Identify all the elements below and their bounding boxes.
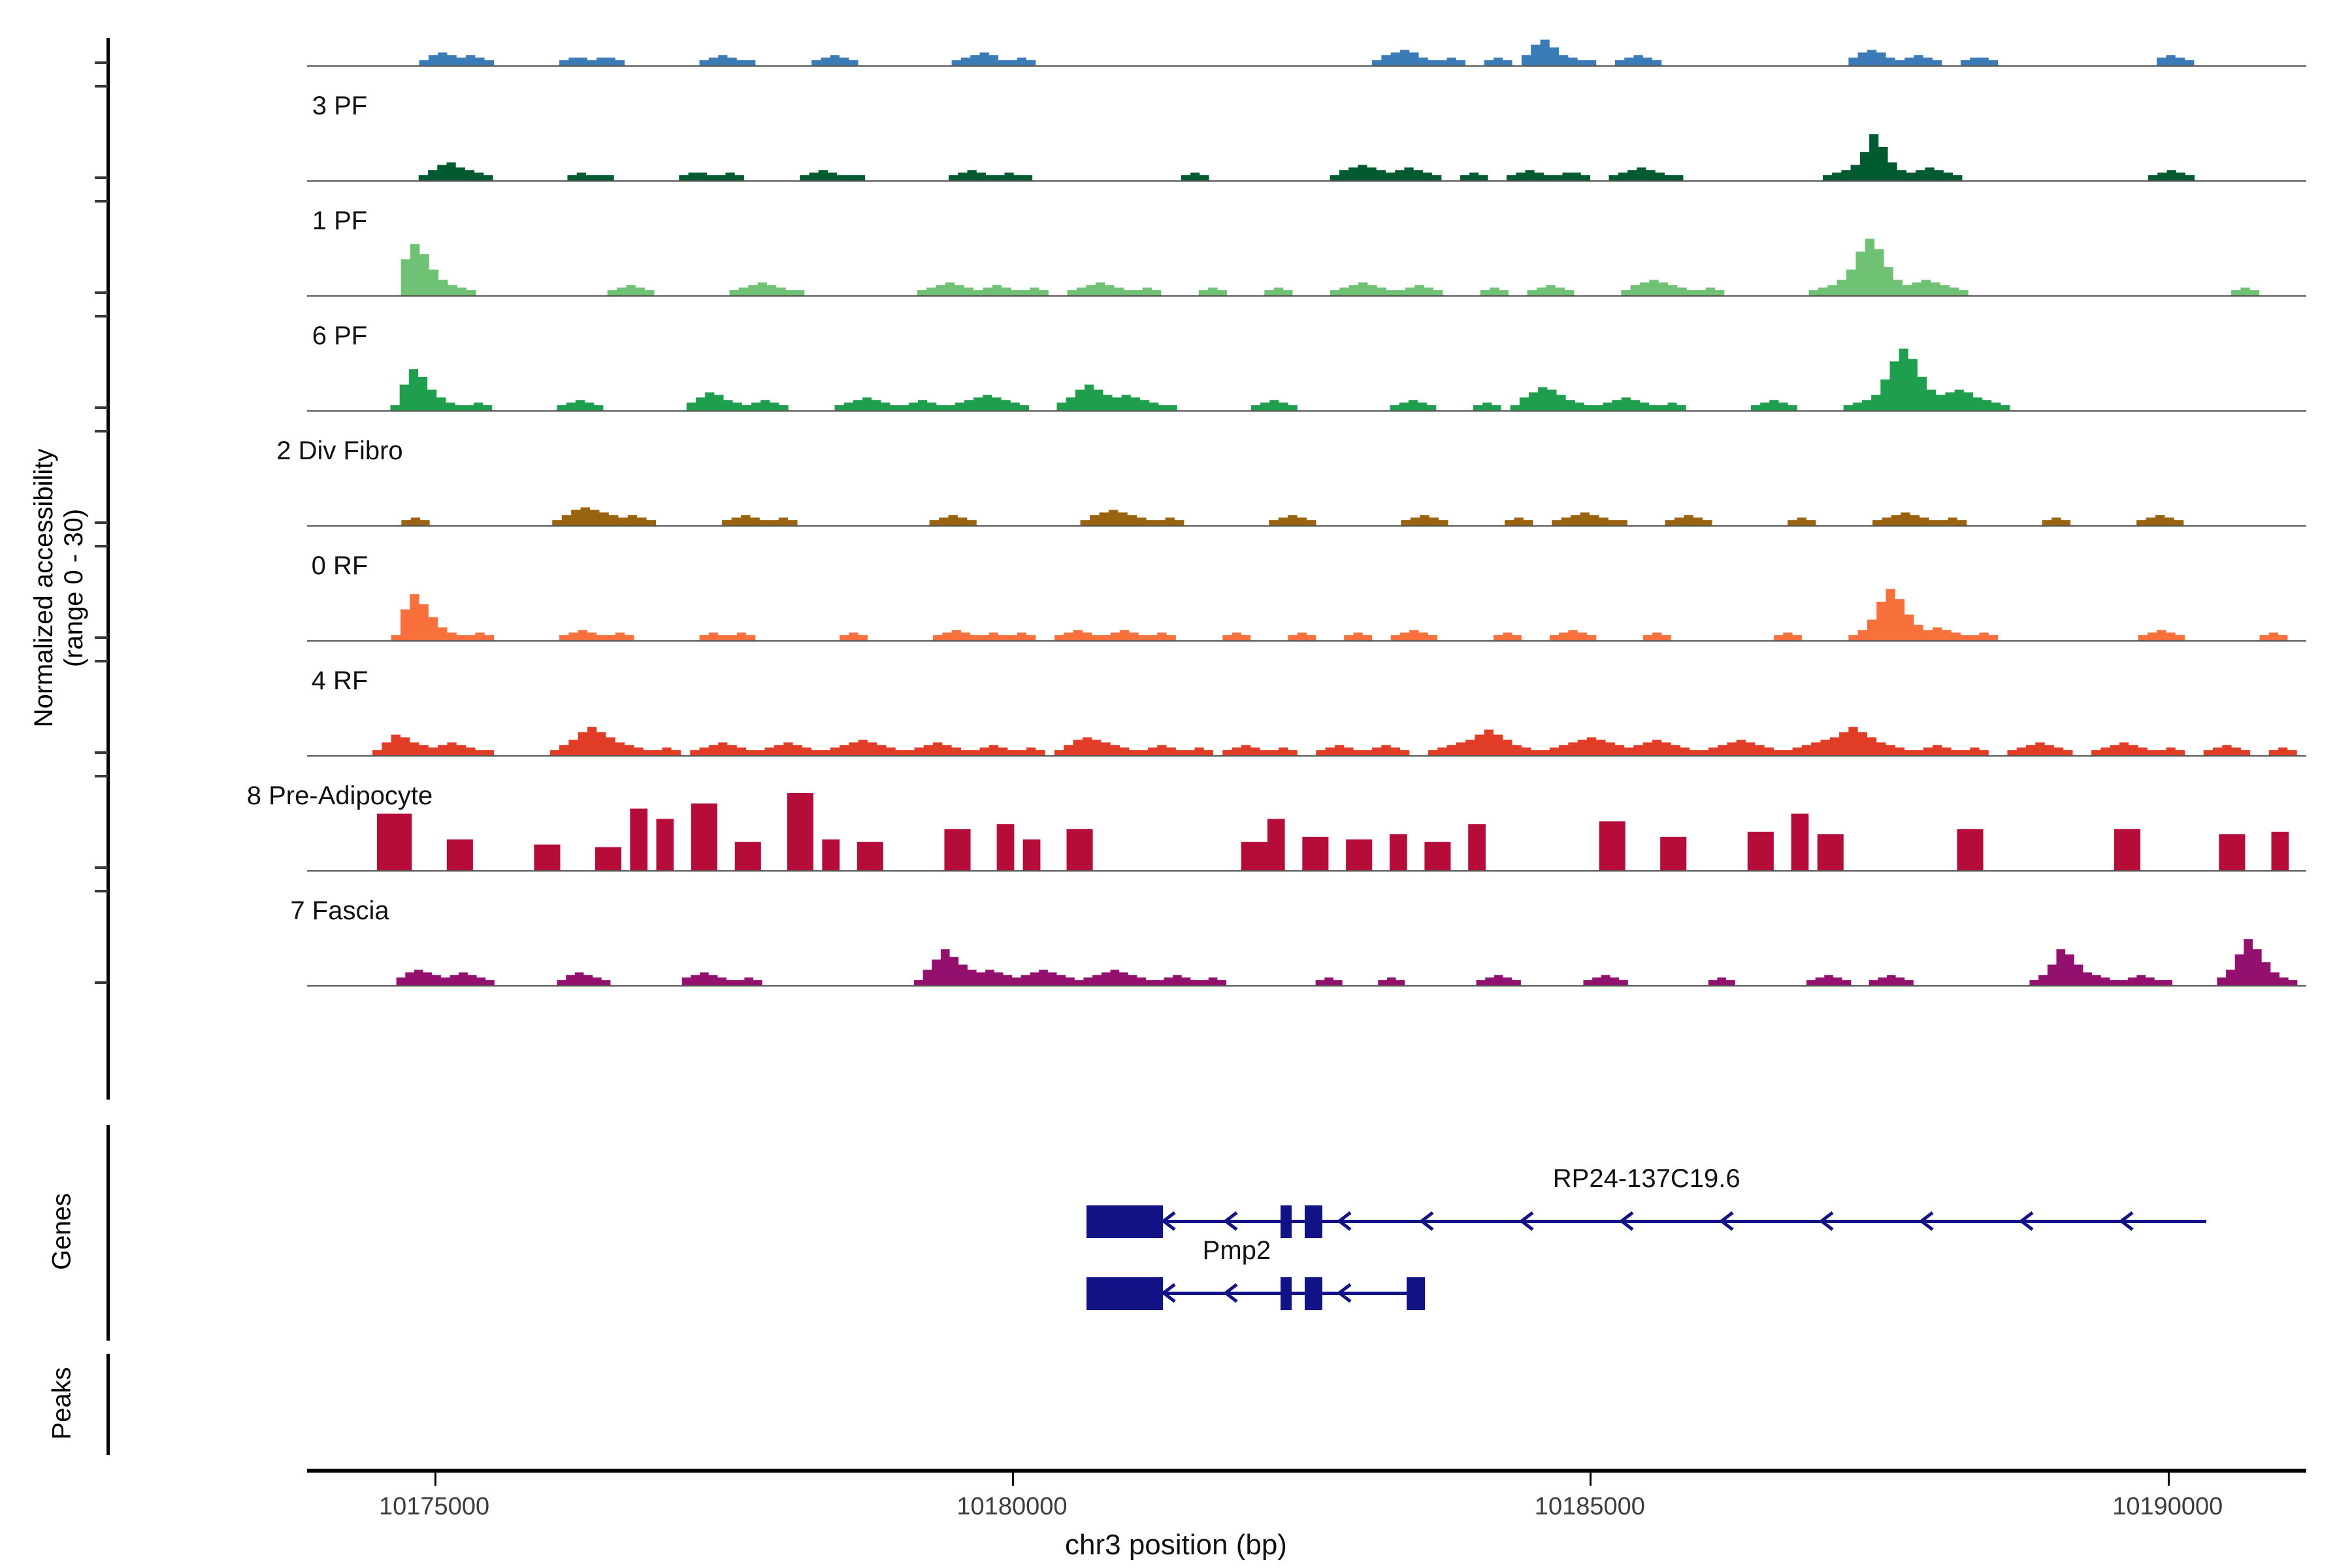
y-axis-tick	[95, 315, 108, 318]
y-axis-label-line1: Normalized accessibility	[29, 449, 58, 728]
x-axis-line	[307, 1469, 2306, 1473]
y-axis-label: Normalized accessibility (range 0 - 30)	[29, 449, 89, 728]
y-axis-tick	[95, 890, 108, 892]
y-axis-tick	[95, 751, 108, 754]
gene-strand-arrow-left-icon	[1618, 1211, 1635, 1232]
x-axis-tick	[1590, 1473, 1592, 1486]
gene-row[interactable]	[307, 1274, 2306, 1313]
x-axis-tick-label: 10180000	[956, 1493, 1067, 1521]
genome-browser-figure: Normalized accessibility (range 0 - 30) …	[0, 0, 2352, 1568]
genes-axis-label: Genes	[48, 1193, 77, 1270]
signal-track	[307, 908, 2306, 985]
track-baseline	[307, 180, 2306, 182]
y-axis-tick	[95, 291, 108, 294]
gene-exon	[1086, 1205, 1162, 1238]
gene-strand-arrow-left-icon	[1418, 1211, 1435, 1232]
gene-strand-arrow-left-icon	[1336, 1211, 1353, 1232]
signal-track	[307, 793, 2306, 870]
x-axis-tick	[434, 1473, 436, 1486]
track-baseline	[307, 525, 2306, 527]
signal-area	[307, 908, 2306, 985]
y-axis-tick	[95, 866, 108, 869]
y-axis-tick	[95, 430, 108, 433]
gene-exon	[1305, 1277, 1323, 1310]
y-axis-tick	[95, 660, 108, 662]
y-axis-tick	[95, 61, 108, 64]
y-axis-tick	[95, 981, 108, 984]
peaks-axis-label: Peaks	[48, 1367, 77, 1439]
signal-track	[307, 103, 2306, 180]
signal-area	[307, 103, 2306, 180]
signal-area	[307, 448, 2306, 525]
x-axis-tick-label: 10175000	[379, 1493, 489, 1521]
track-baseline	[307, 870, 2306, 872]
signal-area	[307, 563, 2306, 640]
signal-track	[307, 563, 2306, 640]
gene-strand-arrow-left-icon	[1222, 1282, 1239, 1303]
track-baseline	[307, 985, 2306, 987]
gene-strand-arrow-left-icon	[1818, 1211, 1835, 1232]
y-axis-tick	[95, 176, 108, 179]
y-axis-tick	[95, 85, 108, 88]
genes-label-group: Genes	[26, 1124, 98, 1339]
y-axis-tick	[95, 406, 108, 409]
peaks-axis-spine	[106, 1354, 110, 1455]
gene-exon	[1086, 1277, 1162, 1310]
y-axis-tick	[95, 200, 108, 203]
signal-axis-spine	[106, 38, 110, 1100]
signal-track	[307, 678, 2306, 755]
track-baseline	[307, 755, 2306, 757]
gene-name-label: RP24-137C19.6	[1553, 1164, 1740, 1194]
signal-area	[307, 0, 2306, 65]
gene-exon	[1281, 1205, 1292, 1238]
x-axis-tick-label: 10190000	[2112, 1493, 2223, 1521]
signal-area	[307, 793, 2306, 870]
gene-strand-arrow-left-icon	[1160, 1282, 1177, 1303]
track-baseline	[307, 65, 2306, 67]
signal-area	[307, 678, 2306, 755]
y-axis-tick	[95, 636, 108, 639]
gene-strand-arrow-left-icon	[2018, 1211, 2035, 1232]
x-axis-tick	[1012, 1473, 1014, 1486]
y-axis-label-group: Normalized accessibility (range 0 - 30)	[20, 405, 98, 771]
gene-strand-arrow-left-icon	[1718, 1211, 1735, 1232]
gene-exon	[1305, 1205, 1323, 1238]
signal-track	[307, 333, 2306, 410]
y-axis-label-line2: (range 0 - 30)	[59, 449, 89, 728]
gene-strand-arrow-left-icon	[1518, 1211, 1535, 1232]
gene-exon	[1281, 1277, 1292, 1310]
gene-strand-arrow-left-icon	[1160, 1211, 1177, 1232]
gene-row[interactable]	[307, 1202, 2306, 1241]
gene-name-label: Pmp2	[1203, 1236, 1271, 1266]
gene-strand-arrow-left-icon	[1222, 1211, 1239, 1232]
peaks-label-group: Peaks	[26, 1352, 98, 1454]
signal-track	[307, 218, 2306, 295]
gene-strand-arrow-left-icon	[2118, 1211, 2135, 1232]
x-axis-tick-label: 10185000	[1535, 1493, 1645, 1521]
gene-exon	[1407, 1277, 1425, 1310]
x-axis-title: chr3 position (bp)	[0, 1529, 2352, 1561]
track-baseline	[307, 410, 2306, 412]
gene-intron-line	[1086, 1220, 2206, 1223]
y-axis-tick	[95, 521, 108, 524]
track-baseline	[307, 640, 2306, 642]
peaks-annotation-track	[307, 1356, 2306, 1454]
gene-strand-arrow-left-icon	[1336, 1282, 1353, 1303]
x-axis-tick	[2168, 1473, 2170, 1486]
track-baseline	[307, 295, 2306, 297]
y-axis-tick	[95, 775, 108, 777]
genes-axis-spine	[106, 1125, 110, 1341]
signal-area	[307, 333, 2306, 410]
y-axis-tick	[95, 545, 108, 547]
signal-area	[307, 218, 2306, 295]
gene-strand-arrow-left-icon	[1918, 1211, 1935, 1232]
signal-track	[307, 0, 2306, 65]
signal-track	[307, 448, 2306, 525]
